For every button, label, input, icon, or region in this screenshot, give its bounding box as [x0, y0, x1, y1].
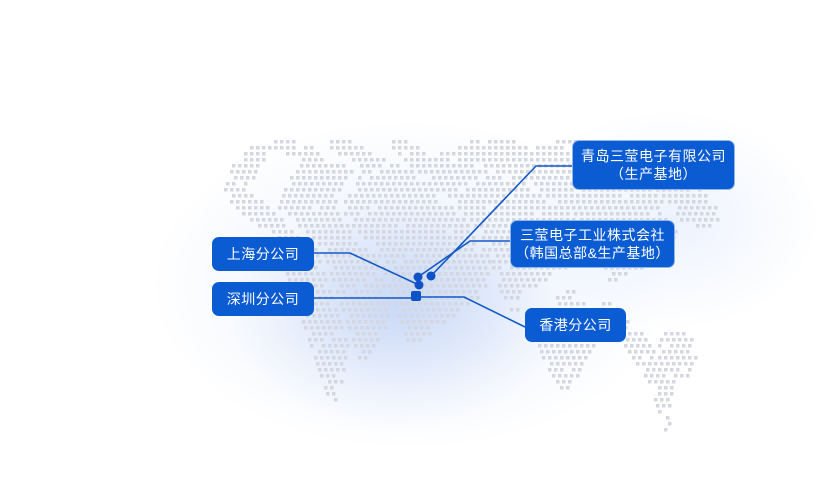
- label-shanghai[interactable]: 上海分公司: [212, 237, 314, 271]
- map-node-shanghai[interactable]: [415, 281, 424, 290]
- map-node-shenzhen[interactable]: [411, 291, 421, 301]
- label-hongkong[interactable]: 香港分公司: [525, 308, 626, 342]
- label-hongkong-title: 香港分公司: [539, 316, 612, 334]
- label-shenzhen[interactable]: 深圳分公司: [212, 282, 314, 316]
- label-shenzhen-title: 深圳分公司: [227, 290, 300, 308]
- label-shanghai-title: 上海分公司: [227, 245, 300, 263]
- map-node-qingdao[interactable]: [427, 272, 436, 281]
- label-qingdao-subtitle: （生产基地）: [610, 165, 697, 183]
- map-canvas: 青岛三莹电子有限公司 （生产基地） 三莹电子工业株式会社 （韩国总部&生产基地）…: [0, 0, 824, 480]
- label-korea-title: 三莹电子工业株式会社: [520, 226, 665, 244]
- label-qingdao-title: 青岛三莹电子有限公司: [581, 147, 726, 165]
- label-korea-subtitle: （韩国总部&生产基地）: [515, 244, 670, 262]
- dotted-world-map: [0, 0, 824, 480]
- label-korea[interactable]: 三莹电子工业株式会社 （韩国总部&生产基地）: [510, 220, 675, 268]
- label-qingdao[interactable]: 青岛三莹电子有限公司 （生产基地）: [572, 140, 735, 190]
